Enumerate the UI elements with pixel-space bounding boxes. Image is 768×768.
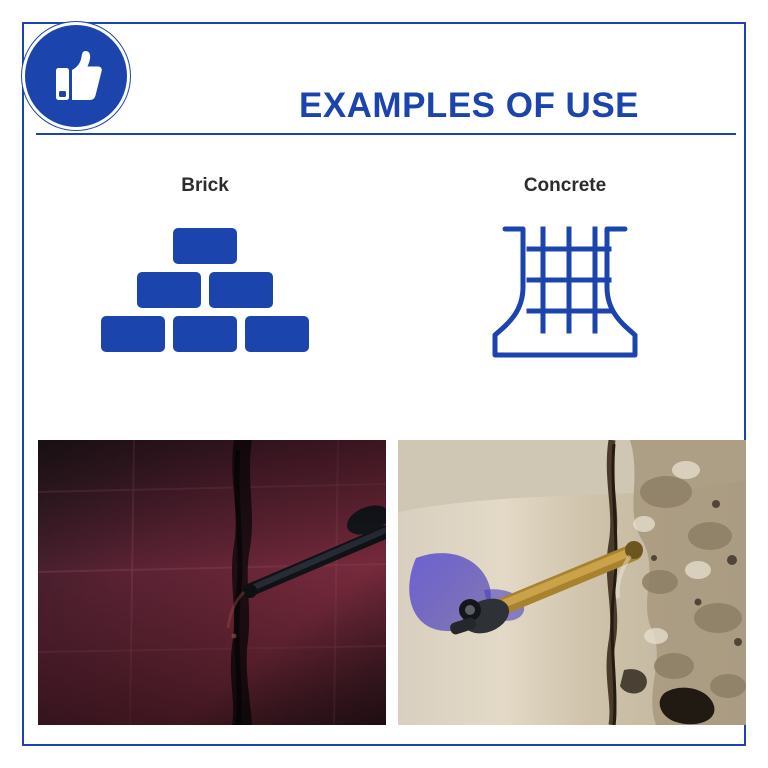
section-label-brick: Brick bbox=[60, 175, 350, 197]
concrete-rebar-icon bbox=[420, 215, 710, 405]
thumbs-up-badge bbox=[22, 22, 130, 130]
page-title: EXAMPLES OF USE bbox=[174, 86, 764, 126]
thumbs-up-icon bbox=[46, 46, 106, 106]
header: EXAMPLES OF USE bbox=[24, 24, 744, 136]
concrete-crack-repair-photo bbox=[398, 440, 746, 725]
brick-wall-crack-repair-photo bbox=[38, 440, 386, 725]
infographic-page: EXAMPLES OF USE Brick Concrete bbox=[0, 0, 768, 768]
section-label-concrete: Concrete bbox=[420, 175, 710, 197]
header-divider bbox=[36, 133, 736, 135]
brick-wall-icon bbox=[60, 220, 350, 405]
